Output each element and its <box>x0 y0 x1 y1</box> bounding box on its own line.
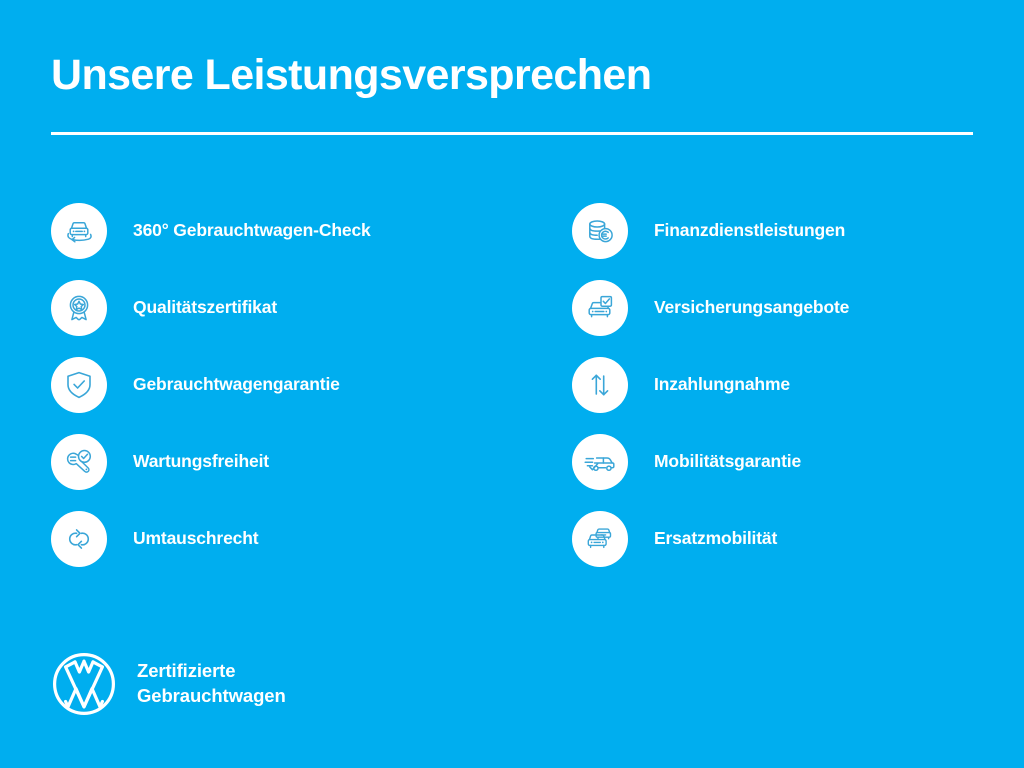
features-left-column: 360° Gebrauchtwagen-Check Qualitätszerti… <box>51 203 481 588</box>
feature-label: Umtauschrecht <box>133 530 258 548</box>
feature-item-exchange-right[interactable]: Umtauschrecht <box>51 511 481 567</box>
wrench-check-icon <box>51 434 107 490</box>
feature-label: Ersatzmobilität <box>654 530 777 548</box>
page-title: Unsere Leistungsversprechen <box>51 53 651 98</box>
car-360-check-icon <box>51 203 107 259</box>
feature-label: Finanzdienstleistungen <box>654 222 845 240</box>
two-cars-icon <box>572 511 628 567</box>
car-motion-icon <box>572 434 628 490</box>
exchange-arrows-icon <box>51 511 107 567</box>
feature-item-quality-certificate[interactable]: Qualitätszertifikat <box>51 280 481 336</box>
feature-label: Mobilitätsgarantie <box>654 453 801 471</box>
brand-lockup: Zertifizierte Gebrauchtwagen <box>51 651 286 717</box>
brand-text-line1: Zertifizierte <box>137 660 235 681</box>
coins-euro-icon <box>572 203 628 259</box>
arrows-up-down-icon <box>572 357 628 413</box>
brand-text: Zertifizierte Gebrauchtwagen <box>137 659 286 708</box>
feature-item-trade-in[interactable]: Inzahlungnahme <box>572 357 1002 413</box>
feature-label: Gebrauchtwagengarantie <box>133 376 340 394</box>
features-right-column: Finanzdienstleistungen <box>572 203 1002 588</box>
title-divider <box>51 132 973 135</box>
feature-label: Inzahlungnahme <box>654 376 790 394</box>
feature-item-warranty[interactable]: Gebrauchtwagengarantie <box>51 357 481 413</box>
feature-item-replacement-mobility[interactable]: Ersatzmobilität <box>572 511 1002 567</box>
brand-text-line2: Gebrauchtwagen <box>137 685 286 706</box>
award-rosette-icon <box>51 280 107 336</box>
volkswagen-logo <box>51 651 117 717</box>
feature-item-insurance-offers[interactable]: Versicherungsangebote <box>572 280 1002 336</box>
feature-label: Wartungsfreiheit <box>133 453 269 471</box>
car-document-check-icon <box>572 280 628 336</box>
feature-item-mobility-guarantee[interactable]: Mobilitätsgarantie <box>572 434 1002 490</box>
feature-label: Qualitätszertifikat <box>133 299 277 317</box>
promise-slide: Unsere Leistungsversprechen <box>0 0 1024 768</box>
feature-item-maintenance-free[interactable]: Wartungsfreiheit <box>51 434 481 490</box>
feature-label: Versicherungsangebote <box>654 299 849 317</box>
feature-label: 360° Gebrauchtwagen-Check <box>133 222 371 240</box>
feature-item-financial-services[interactable]: Finanzdienstleistungen <box>572 203 1002 259</box>
feature-item-360-check[interactable]: 360° Gebrauchtwagen-Check <box>51 203 481 259</box>
shield-check-icon <box>51 357 107 413</box>
